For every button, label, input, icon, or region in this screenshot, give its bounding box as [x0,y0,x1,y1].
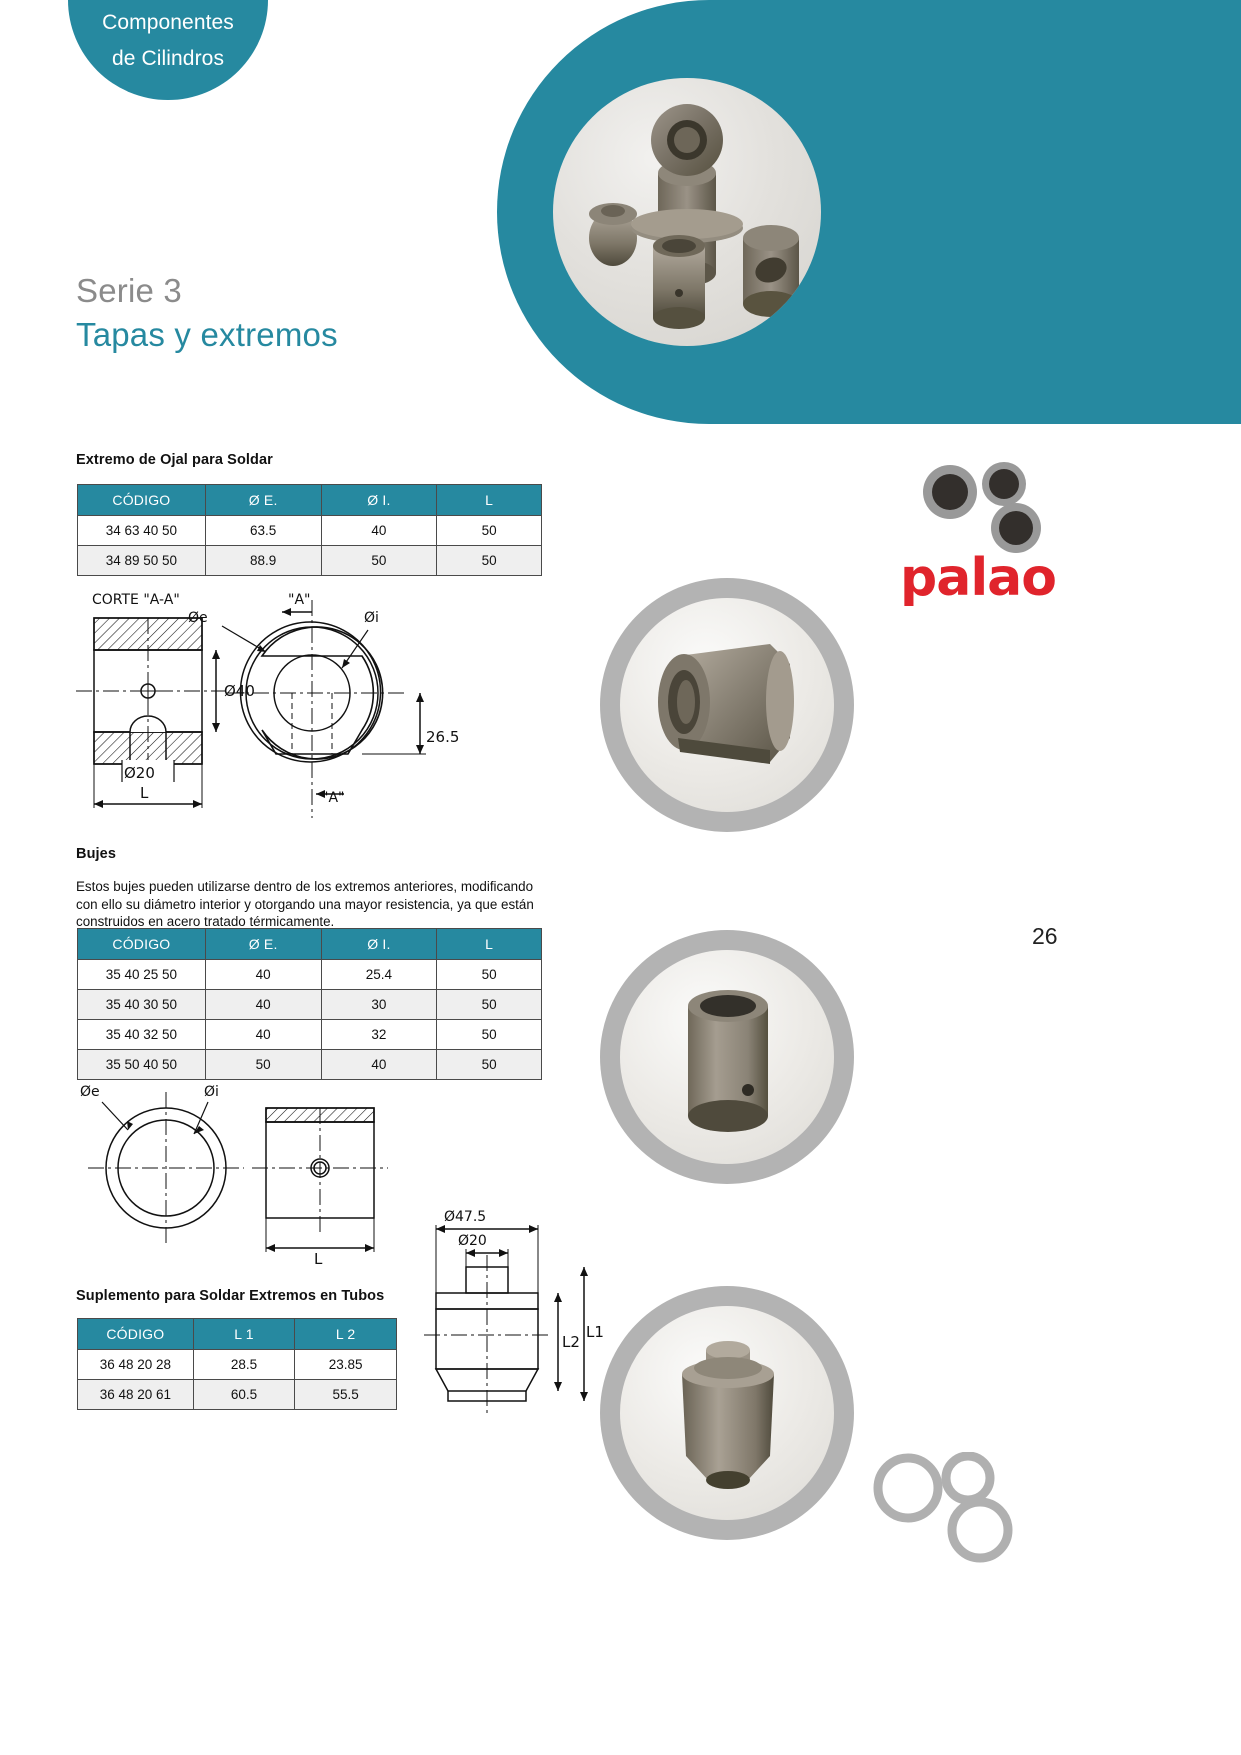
photo-artwork-suplemento [620,1306,834,1520]
cell-codigo: 34 63 40 50 [78,516,206,546]
photo-artwork-ojal [620,598,834,812]
col-di: Ø I. [321,929,437,960]
col-di: Ø I. [321,485,437,516]
photo-inner [620,598,834,812]
drawing-suplemento: Ø20 Ø47.5 L2 L1 [418,1205,608,1430]
cell-l: 50 [437,1050,542,1080]
cell-di: 40 [321,516,437,546]
product-photo-suplemento [600,1286,854,1540]
cell-codigo: 35 50 40 50 [78,1050,206,1080]
cell-l: 50 [437,546,542,576]
cell-di: 50 [321,546,437,576]
label-d40: Ø40 [224,682,255,700]
table-row: 36 48 20 61 60.5 55.5 [78,1380,397,1410]
table-row: 36 48 20 28 28.5 23.85 [78,1350,397,1380]
rings-outline-icon [868,1452,1048,1572]
cell-codigo: 34 89 50 50 [78,546,206,576]
product-photo-extremo-ojal [600,578,854,832]
brand-logo [912,462,1060,559]
decorative-rings [868,1452,1048,1577]
hero-product-photo [553,78,821,346]
cell-de: 63.5 [205,516,321,546]
label-supl-d20: Ø20 [458,1233,487,1249]
cell-l2: 55.5 [295,1380,397,1410]
table-suplemento: CÓDIGO L 1 L 2 36 48 20 28 28.5 23.85 36… [77,1318,397,1410]
table-row: 35 50 40 50 50 40 50 [78,1050,542,1080]
cell-l: 50 [437,990,542,1020]
drawing-bujes: Øe Øi L [76,1082,406,1272]
col-l: L [437,929,542,960]
palao-rings-icon [912,462,1060,554]
cell-de: 40 [205,990,321,1020]
photo-artwork-buje [620,950,834,1164]
label-buje-di: Øi [204,1084,219,1100]
table-header-row: CÓDIGO L 1 L 2 [78,1319,397,1350]
label-di: Øi [364,610,379,626]
table-row: 35 40 30 50 40 30 50 [78,990,542,1020]
label-corte-aa: CORTE "A-A" [92,592,180,608]
label-A-top: "A" [288,592,310,608]
cell-de: 88.9 [205,546,321,576]
category-tab-line2: de Cilindros [68,36,268,72]
label-buje-de: Øe [80,1084,100,1100]
label-supl-L2: L2 [562,1333,580,1351]
col-codigo: CÓDIGO [78,1319,194,1350]
cell-codigo: 35 40 32 50 [78,1020,206,1050]
cell-codigo: 36 48 20 28 [78,1350,194,1380]
label-d20: Ø20 [124,764,155,782]
label-supl-L1: L1 [586,1323,604,1341]
cell-di: 30 [321,990,437,1020]
section-heading-suplemento: Suplemento para Soldar Extremos en Tubos [76,1288,384,1304]
table-row: 35 40 32 50 40 32 50 [78,1020,542,1050]
page-number: 26 [1032,923,1058,950]
drawing-ojal: CORTE "A-A" Ø40 [76,582,546,844]
bujes-paragraph: Estos bujes pueden utilizarse dentro de … [76,878,546,931]
cell-de: 40 [205,960,321,990]
col-l1: L 1 [193,1319,295,1350]
section-heading-bujes: Bujes [76,846,116,862]
col-l2: L 2 [295,1319,397,1350]
hero-photo-artwork [553,78,821,346]
category-tab: Componentes de Cilindros [68,0,268,100]
label-buje-L: L [314,1250,323,1268]
col-de: Ø E. [205,485,321,516]
cell-l1: 60.5 [193,1380,295,1410]
photo-inner [620,1306,834,1520]
label-A-bottom: "A" [322,790,344,806]
cell-di: 40 [321,1050,437,1080]
cell-codigo: 35 40 30 50 [78,990,206,1020]
label-265: 26.5 [426,728,459,746]
label-supl-d475: Ø47.5 [444,1209,486,1225]
photo-inner [620,950,834,1164]
col-codigo: CÓDIGO [78,929,206,960]
cell-di: 25.4 [321,960,437,990]
cell-l1: 28.5 [193,1350,295,1380]
table-header-row: CÓDIGO Ø E. Ø I. L [78,485,542,516]
table-bujes: CÓDIGO Ø E. Ø I. L 35 40 25 50 40 25.4 5… [77,928,542,1080]
label-de: Øe [188,610,208,626]
cell-de: 40 [205,1020,321,1050]
cell-de: 50 [205,1050,321,1080]
page-header: Componentes de Cilindros [0,0,1241,478]
table-row: 34 89 50 50 88.9 50 50 [78,546,542,576]
page-subtitle: Tapas y extremos [76,316,338,354]
cell-codigo: 36 48 20 61 [78,1380,194,1410]
cell-l: 50 [437,960,542,990]
label-L: L [140,784,149,802]
section-heading-ojal: Extremo de Ojal para Soldar [76,452,273,468]
table-ojal: CÓDIGO Ø E. Ø I. L 34 63 40 50 63.5 40 5… [77,484,542,576]
page-title: Serie 3 [76,272,182,310]
palao-wordmark: palao [900,548,1056,608]
table-header-row: CÓDIGO Ø E. Ø I. L [78,929,542,960]
product-photo-buje [600,930,854,1184]
cell-l: 50 [437,1020,542,1050]
col-codigo: CÓDIGO [78,485,206,516]
table-row: 34 63 40 50 63.5 40 50 [78,516,542,546]
table-row: 35 40 25 50 40 25.4 50 [78,960,542,990]
col-l: L [437,485,542,516]
cell-l2: 23.85 [295,1350,397,1380]
cell-codigo: 35 40 25 50 [78,960,206,990]
col-de: Ø E. [205,929,321,960]
cell-l: 50 [437,516,542,546]
category-tab-line1: Componentes [68,0,268,36]
cell-di: 32 [321,1020,437,1050]
